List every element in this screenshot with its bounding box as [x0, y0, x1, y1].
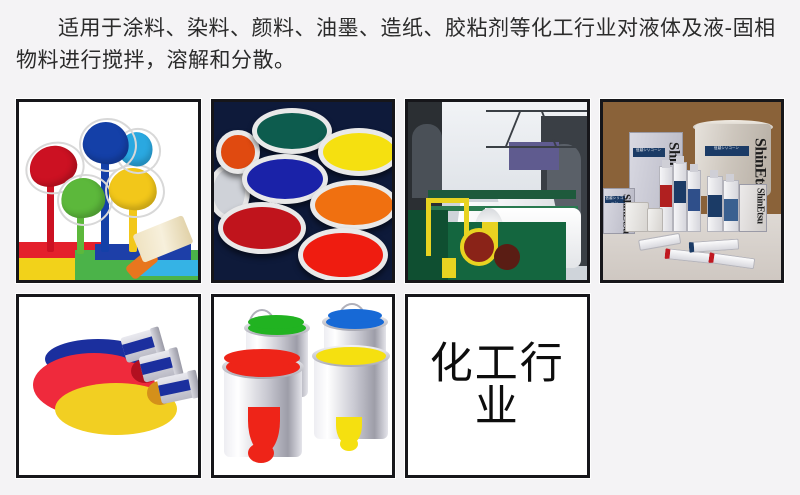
industry-label-text: 化工行业 [408, 343, 587, 429]
safety-rail-vertical [426, 198, 431, 256]
machine-yellow-base [442, 258, 456, 278]
pouring-paint-cans-scene [19, 102, 198, 280]
pigment-tin-dark-red [218, 202, 306, 254]
pail-label: 信越シリコーン [705, 146, 749, 156]
sealant-tube-5 [723, 180, 739, 232]
safety-rail-horizontal [426, 198, 468, 203]
gallery-image-sealant-products[interactable]: 信越シリコーン ShinEtsu 信越シリコーン ShinEtsu 信越シリコー… [600, 99, 785, 283]
tube-band-red [660, 185, 672, 207]
open-buckets-scene [214, 297, 393, 475]
gallery-image-pouring-paint-cans[interactable] [16, 99, 201, 283]
gallery-empty-slot [600, 294, 784, 478]
carton-label-1: 信越シリコーン [633, 148, 665, 157]
tube-cap-icon [726, 174, 734, 182]
industry-label-scene: 化工行业 [408, 297, 587, 475]
product-jar-1 [625, 202, 649, 232]
machine-wheel-large [460, 228, 498, 266]
pigment-tin-red [298, 228, 388, 280]
brand-text-4: ShinEtsu [755, 188, 766, 224]
product-jar-2 [647, 208, 663, 232]
factory-roof-truss [486, 110, 587, 148]
paint-blob-red [248, 443, 274, 463]
tube-band-blue [708, 195, 722, 217]
gallery-row-1: 信越シリコーン ShinEtsu 信越シリコーン ShinEtsu 信越シリコー… [16, 99, 784, 283]
factory-arch-left [412, 124, 442, 198]
tube-cap-icon [690, 164, 698, 172]
sealant-products-scene: 信越シリコーン ShinEtsu 信越シリコーン ShinEtsu 信越シリコー… [603, 102, 782, 280]
spilled-paint-scene [19, 297, 198, 475]
tube-cap-icon [710, 170, 718, 178]
intro-paragraph: 适用于涂料、染料、颜料、油墨、造纸、胶粘剂等化工行业对液体及液-固相物料进行搅拌… [16, 12, 788, 76]
paint-can-tipped-yellow [157, 372, 196, 405]
pigment-tin-orange [310, 180, 393, 230]
gallery-image-pigment-tins[interactable] [211, 99, 396, 283]
bucket-lid-red [224, 349, 300, 367]
can-lid [168, 347, 184, 376]
gallery-image-open-paint-buckets[interactable] [211, 294, 396, 478]
tube-cap-icon [676, 156, 684, 164]
sealant-tube-2 [673, 162, 687, 232]
tube-band-blue [674, 181, 686, 203]
bucket-lid-green [248, 315, 304, 329]
paint-blob-yellow [340, 437, 358, 451]
gallery-row-2: 化工行业 [16, 294, 784, 478]
gallery-image-industry-label[interactable]: 化工行业 [405, 294, 590, 478]
tube-cap-icon [662, 160, 670, 168]
pigment-tin-yellow [318, 128, 393, 176]
gallery-image-paper-making-machine[interactable] [405, 99, 590, 283]
bucket-paint-yellow [316, 347, 386, 365]
pigment-tins-scene [214, 102, 393, 280]
paper-machine-scene [408, 102, 587, 280]
tube-band-steel [724, 199, 738, 221]
image-gallery: 信越シリコーン ShinEtsu 信越シリコーン ShinEtsu 信越シリコー… [16, 99, 784, 489]
gallery-image-spilled-paint-cans[interactable] [16, 294, 201, 478]
bucket-lid-blue [328, 309, 382, 322]
sealant-tube-4 [707, 176, 723, 232]
machine-wheel-small [494, 244, 520, 270]
tube-band-navy [688, 189, 700, 211]
sealant-tube-3 [687, 170, 701, 232]
